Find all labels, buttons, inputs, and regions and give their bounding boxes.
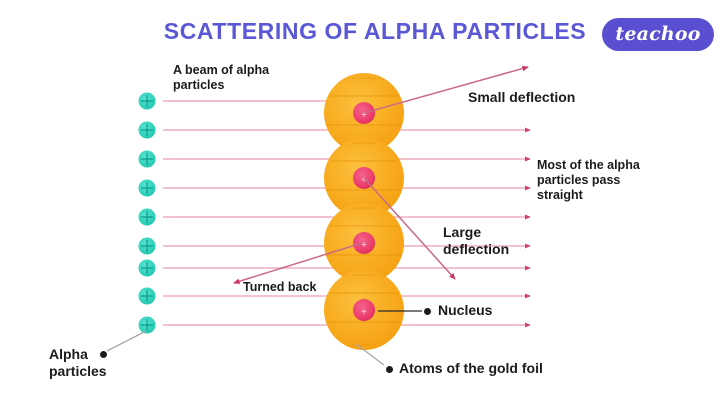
alpha-callout-dot <box>100 351 107 358</box>
nucleus-callout-dot <box>424 308 431 315</box>
alpha-particle <box>139 122 156 139</box>
label-turned-back: Turned back <box>243 280 363 295</box>
label-large-deflection: Large deflection <box>443 224 553 258</box>
alpha-particle <box>139 209 156 226</box>
gold-atom-group: + + + <box>324 73 404 350</box>
label-most-pass-straight: Most of the alpha particles pass straigh… <box>537 158 717 203</box>
nucleus-charge-symbol: + <box>361 240 367 251</box>
label-beam-of-alpha-particles: A beam of alpha particles <box>173 63 323 93</box>
alpha-particle <box>139 93 156 110</box>
alpha-particle-group <box>139 93 156 334</box>
alpha-particle <box>139 260 156 277</box>
label-alpha-particles: Alpha particles <box>49 346 149 380</box>
label-small-deflection: Small deflection <box>468 89 648 106</box>
label-nucleus: Nucleus <box>438 302 528 319</box>
alpha-particle <box>139 238 156 255</box>
scattering-diagram-page: SCATTERING OF ALPHA PARTICLES teachoo <box>0 0 720 404</box>
alpha-particle <box>139 180 156 197</box>
nucleus-charge-symbol: + <box>361 307 367 318</box>
alpha-particle <box>139 288 156 305</box>
atoms-callout-dot <box>386 366 393 373</box>
label-atoms-of-gold-foil: Atoms of the gold foil <box>399 360 599 377</box>
alpha-particle <box>139 317 156 334</box>
alpha-particle <box>139 151 156 168</box>
